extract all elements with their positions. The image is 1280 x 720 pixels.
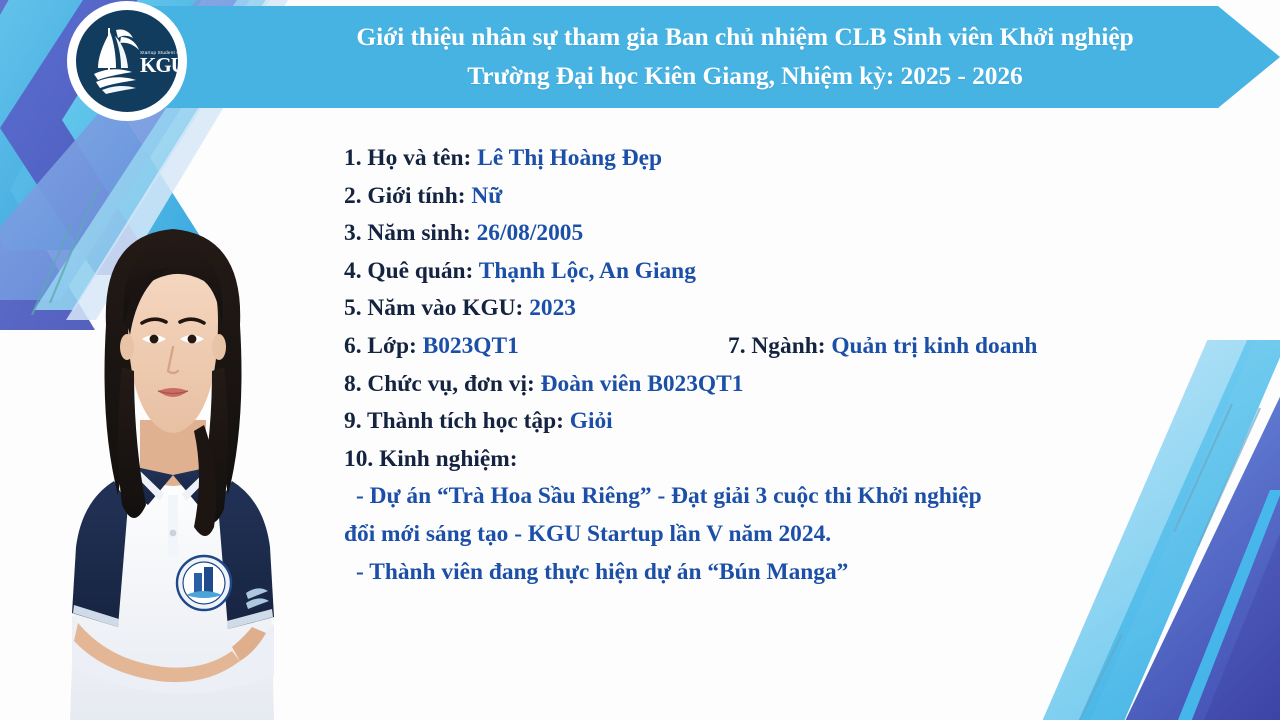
sailboat-wave-icon: KGU Startup Student Club: [76, 10, 178, 112]
info-row-6-num: 6.: [344, 333, 362, 359]
info-row-3-num: 3.: [344, 220, 362, 246]
banner-title-line-1: Giới thiệu nhân sự tham gia Ban chủ nhiệ…: [356, 18, 1133, 57]
info-row-3-label: Năm sinh:: [367, 220, 470, 246]
info-row-7: 7. Ngành: Quản trị kinh doanh: [728, 328, 1037, 366]
info-row-6-value: B023QT1: [423, 333, 519, 359]
info-row-2: 2. Giới tính: Nữ: [344, 178, 1244, 216]
info-row-4-value: Thạnh Lộc, An Giang: [479, 258, 696, 284]
info-row-9-num: 9.: [344, 408, 362, 434]
info-row-5-value: 2023: [529, 295, 576, 321]
experience-line-2: đổi mới sáng tạo - KGU Startup lần V năm…: [344, 516, 1244, 554]
info-row-8-label: Chức vụ, đơn vị:: [367, 371, 534, 397]
info-row-3: 3. Năm sinh: 26/08/2005: [344, 215, 1244, 253]
info-row-6-7: 6. Lớp: B023QT1 7. Ngành: Quản trị kinh …: [344, 328, 1244, 366]
info-row-9-value: Giỏi: [570, 408, 613, 434]
info-row-2-value: Nữ: [471, 183, 502, 209]
info-row-4-num: 4.: [344, 258, 362, 284]
info-row-10: 10. Kinh nghiệm:: [344, 441, 1244, 479]
info-row-4: 4. Quê quán: Thạnh Lộc, An Giang: [344, 253, 1244, 291]
info-row-5-num: 5.: [344, 295, 362, 321]
banner-title-line-2: Trường Đại học Kiên Giang, Nhiệm kỳ: 202…: [467, 57, 1022, 96]
info-row-8-num: 8.: [344, 371, 362, 397]
info-row-2-label: Giới tính:: [367, 183, 465, 209]
info-row-7-label: Ngành:: [751, 333, 825, 359]
info-row-7-num: 7.: [728, 333, 746, 359]
svg-text:KGU: KGU: [140, 53, 178, 77]
info-row-2-num: 2.: [344, 183, 362, 209]
svg-text:Startup Student Club: Startup Student Club: [140, 50, 178, 55]
info-list: 1. Họ và tên: Lê Thị Hoàng Đẹp 2. Giới t…: [344, 140, 1244, 591]
kgu-logo: KGU Startup Student Club: [76, 10, 178, 112]
info-row-4-label: Quê quán:: [367, 258, 473, 284]
info-row-1-num: 1.: [344, 145, 362, 171]
slide-root: Giới thiệu nhân sự tham gia Ban chủ nhiệ…: [0, 0, 1280, 720]
info-row-1: 1. Họ và tên: Lê Thị Hoàng Đẹp: [344, 140, 1244, 178]
info-row-8-value: Đoàn viên B023QT1: [541, 371, 744, 397]
info-row-8: 8. Chức vụ, đơn vị: Đoàn viên B023QT1: [344, 366, 1244, 404]
experience-line-1: - Dự án “Trà Hoa Sầu Riêng” - Đạt giải 3…: [344, 478, 1244, 516]
info-row-7-value: Quản trị kinh doanh: [831, 333, 1037, 359]
logo-circle: KGU Startup Student Club: [76, 10, 178, 112]
info-row-5: 5. Năm vào KGU: 2023: [344, 290, 1244, 328]
info-row-6-label: Lớp:: [367, 333, 416, 359]
info-row-6: 6. Lớp: B023QT1: [344, 328, 728, 366]
info-row-9: 9. Thành tích học tập: Giỏi: [344, 403, 1244, 441]
info-row-10-label: Kinh nghiệm:: [379, 446, 517, 472]
info-row-3-value: 26/08/2005: [477, 220, 584, 246]
student-portrait: [18, 175, 328, 720]
header-banner: Giới thiệu nhân sự tham gia Ban chủ nhiệ…: [150, 6, 1280, 108]
info-row-10-num: 10.: [344, 446, 373, 472]
info-row-5-label: Năm vào KGU:: [367, 295, 523, 321]
info-row-1-label: Họ và tên:: [367, 145, 471, 171]
experience-line-3: - Thành viên đang thực hiện dự án “Bún M…: [344, 554, 1244, 592]
school-emblem-icon: [177, 556, 231, 610]
info-row-9-label: Thành tích học tập:: [367, 408, 564, 434]
right-bottom-accent-line: [1060, 630, 1130, 720]
info-row-1-value: Lê Thị Hoàng Đẹp: [477, 145, 662, 171]
